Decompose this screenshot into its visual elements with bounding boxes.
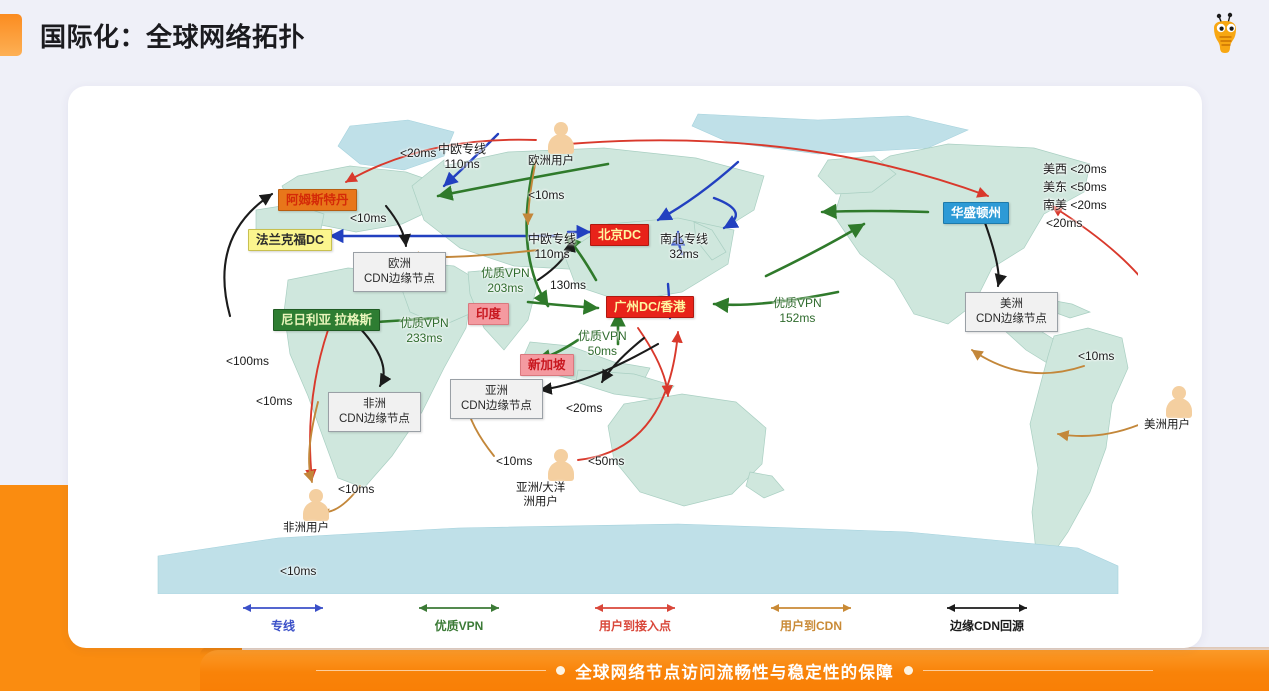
route-latency-label: <10ms xyxy=(350,211,386,226)
legend-user-to-pop: 用户到接入点 xyxy=(575,601,695,634)
user-label-user-europe: 欧洲用户 xyxy=(528,154,574,168)
node-beijing[interactable]: 北京DC xyxy=(590,224,649,246)
map-legend: 专线优质VPN用户到接入点用户到CDN边缘CDN回源 xyxy=(68,601,1202,634)
route-latency-label: <100ms xyxy=(226,354,269,369)
topology-card: .land{fill:#cfe7dd;stroke:#a9cfc2;stroke… xyxy=(68,86,1202,648)
cdn-node-cdn-americas[interactable]: 美洲CDN边缘节点 xyxy=(965,292,1058,332)
cdn-node-type: CDN边缘节点 xyxy=(339,412,410,427)
legend-dedicated-line: 专线 xyxy=(223,601,343,634)
user-body-icon xyxy=(303,501,329,521)
route-latency-label: 美西 <20ms xyxy=(1043,162,1107,177)
route-latency-label: 美东 <50ms xyxy=(1043,180,1107,195)
route-latency-label: <10ms xyxy=(256,394,292,409)
legend-line-icon xyxy=(585,601,685,615)
user-icon-user-africa xyxy=(303,489,329,521)
user-body-icon xyxy=(548,461,574,481)
route-latency-label: 优质VPN203ms xyxy=(481,266,530,296)
route-latency-label: 优质VPN50ms xyxy=(578,329,627,359)
legend-line-icon xyxy=(409,601,509,615)
legend-cdn-origin: 边缘CDN回源 xyxy=(927,601,1047,634)
footer-rule-left xyxy=(316,670,546,671)
user-icon-user-europe xyxy=(548,122,574,154)
bee-mascot-logo xyxy=(1203,10,1249,56)
route-latency-label: <20ms xyxy=(400,146,436,161)
route-latency-label: 中欧专线110ms xyxy=(528,232,576,262)
node-guangzhou[interactable]: 广州DC/香港 xyxy=(606,296,694,318)
user-body-icon xyxy=(1166,398,1192,418)
legend-line-icon xyxy=(937,601,1037,615)
legend-label: 边缘CDN回源 xyxy=(950,617,1024,634)
cdn-node-type: CDN边缘节点 xyxy=(364,272,435,287)
route-latency-label: 130ms xyxy=(550,278,586,293)
legend-user-to-cdn: 用户到CDN xyxy=(751,601,871,634)
cdn-node-type: CDN边缘节点 xyxy=(461,399,532,414)
route-latency-label: <10ms xyxy=(1078,349,1114,364)
header-accent-bar xyxy=(0,14,22,56)
route-latency-label: 南美 <20ms xyxy=(1043,198,1107,213)
world-map: .land{fill:#cfe7dd;stroke:#a9cfc2;stroke… xyxy=(138,104,1138,594)
cdn-node-cdn-asia[interactable]: 亚洲CDN边缘节点 xyxy=(450,379,543,419)
node-amsterdam[interactable]: 阿姆斯特丹 xyxy=(278,189,357,211)
node-india[interactable]: 印度 xyxy=(468,303,509,325)
cdn-node-region: 欧洲 xyxy=(364,257,435,272)
map-overlay: 阿姆斯特丹法兰克福DC尼日利亚 拉格斯北京DC广州DC/香港华盛顿州印度新加坡欧… xyxy=(138,104,1138,594)
footer-content: 全球网络节点访问流畅性与稳定性的保障 xyxy=(200,650,1269,691)
node-lagos[interactable]: 尼日利亚 拉格斯 xyxy=(273,309,380,331)
user-label-user-africa: 非洲用户 xyxy=(283,521,329,535)
cdn-node-cdn-africa[interactable]: 非洲CDN边缘节点 xyxy=(328,392,421,432)
legend-label: 优质VPN xyxy=(435,617,484,634)
route-latency-label: <10ms xyxy=(338,482,374,497)
route-latency-label: <20ms xyxy=(1046,216,1082,231)
route-latency-label: <10ms xyxy=(528,188,564,203)
footer-dot-right xyxy=(904,666,913,675)
legend-label: 专线 xyxy=(271,617,295,634)
route-latency-label: <10ms xyxy=(280,564,316,579)
route-latency-label: <10ms xyxy=(496,454,532,469)
footer-dot-left xyxy=(556,666,565,675)
route-latency-label: 中欧专线110ms xyxy=(438,142,486,172)
legend-line-icon xyxy=(233,601,333,615)
user-icon-user-americas xyxy=(1166,386,1192,418)
page-title: 国际化：全球网络拓扑 xyxy=(40,17,305,54)
footer-text: 全球网络节点访问流畅性与稳定性的保障 xyxy=(575,659,894,683)
cdn-node-region: 亚洲 xyxy=(461,384,532,399)
footer-rule-right xyxy=(923,670,1153,671)
node-singapore[interactable]: 新加坡 xyxy=(520,354,574,376)
route-latency-label: 南北专线32ms xyxy=(660,232,708,262)
node-frankfurt[interactable]: 法兰克福DC xyxy=(248,229,332,251)
legend-label: 用户到CDN xyxy=(780,617,842,634)
route-latency-label: <50ms xyxy=(588,454,624,469)
cdn-node-cdn-europe[interactable]: 欧洲CDN边缘节点 xyxy=(353,252,446,292)
page-header: 国际化：全球网络拓扑 xyxy=(0,14,305,56)
route-latency-label: 优质VPN233ms xyxy=(400,316,449,346)
legend-label: 用户到接入点 xyxy=(599,617,671,634)
cdn-node-type: CDN边缘节点 xyxy=(976,312,1047,327)
user-body-icon xyxy=(548,134,574,154)
legend-line-icon xyxy=(761,601,861,615)
cdn-node-region: 非洲 xyxy=(339,397,410,412)
legend-premium-vpn: 优质VPN xyxy=(399,601,519,634)
route-latency-label: 优质VPN152ms xyxy=(773,296,822,326)
cdn-node-region: 美洲 xyxy=(976,297,1047,312)
user-label-user-apac: 亚洲/大洋洲用户 xyxy=(516,481,565,510)
route-latency-label: <20ms xyxy=(566,401,602,416)
node-washington[interactable]: 华盛顿州 xyxy=(943,202,1009,224)
user-label-user-americas: 美洲用户 xyxy=(1144,418,1190,432)
user-icon-user-apac xyxy=(548,449,574,481)
